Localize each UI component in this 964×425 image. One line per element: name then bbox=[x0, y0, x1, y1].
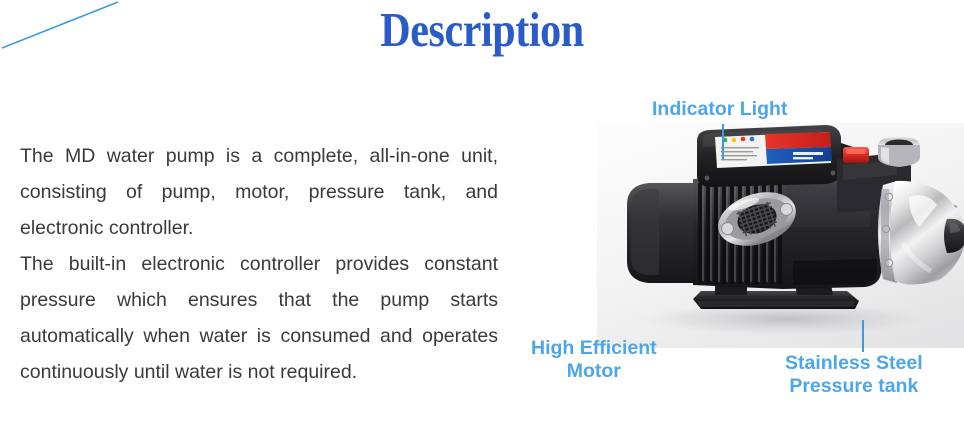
pump-body-shadow bbox=[793, 259, 877, 285]
red-indicator-button bbox=[843, 147, 869, 163]
outlet-port bbox=[878, 136, 920, 167]
callout-high-efficient-motor: High Efficient Motor bbox=[531, 337, 657, 383]
tank-connector-band bbox=[881, 189, 889, 273]
description-text-block: The MD water pump is a complete, all-in-… bbox=[20, 138, 498, 390]
leader-line-pressure-tank bbox=[862, 320, 864, 352]
callout-stainless-pressure-tank: Stainless Steel Pressure tank bbox=[785, 352, 923, 398]
controller-label bbox=[715, 132, 832, 168]
tank-end-cap bbox=[944, 219, 964, 253]
controller-screw-right bbox=[831, 171, 836, 176]
motor-cap-highlight bbox=[631, 189, 659, 275]
leader-line-indicator-light bbox=[722, 124, 724, 160]
callout-tank-line2: Pressure tank bbox=[785, 375, 923, 398]
callout-indicator-light-line1: Indicator Light bbox=[652, 98, 787, 121]
callout-indicator-light: Indicator Light bbox=[652, 98, 787, 121]
pump-illustration bbox=[597, 123, 964, 348]
base-highlight bbox=[697, 301, 855, 307]
callout-motor-line1: High Efficient bbox=[531, 337, 657, 360]
description-paragraph-1: The MD water pump is a complete, all-in-… bbox=[20, 138, 498, 246]
product-photo bbox=[597, 123, 964, 348]
pressure-tank bbox=[878, 181, 964, 285]
description-paragraph-2: The built-in electronic controller provi… bbox=[20, 246, 498, 390]
callout-tank-line1: Stainless Steel bbox=[785, 352, 923, 375]
callout-motor-line2: Motor bbox=[531, 360, 657, 383]
page-title: Description bbox=[67, 2, 896, 58]
electronic-controller-box bbox=[697, 125, 853, 187]
controller-screw-left bbox=[705, 176, 710, 181]
